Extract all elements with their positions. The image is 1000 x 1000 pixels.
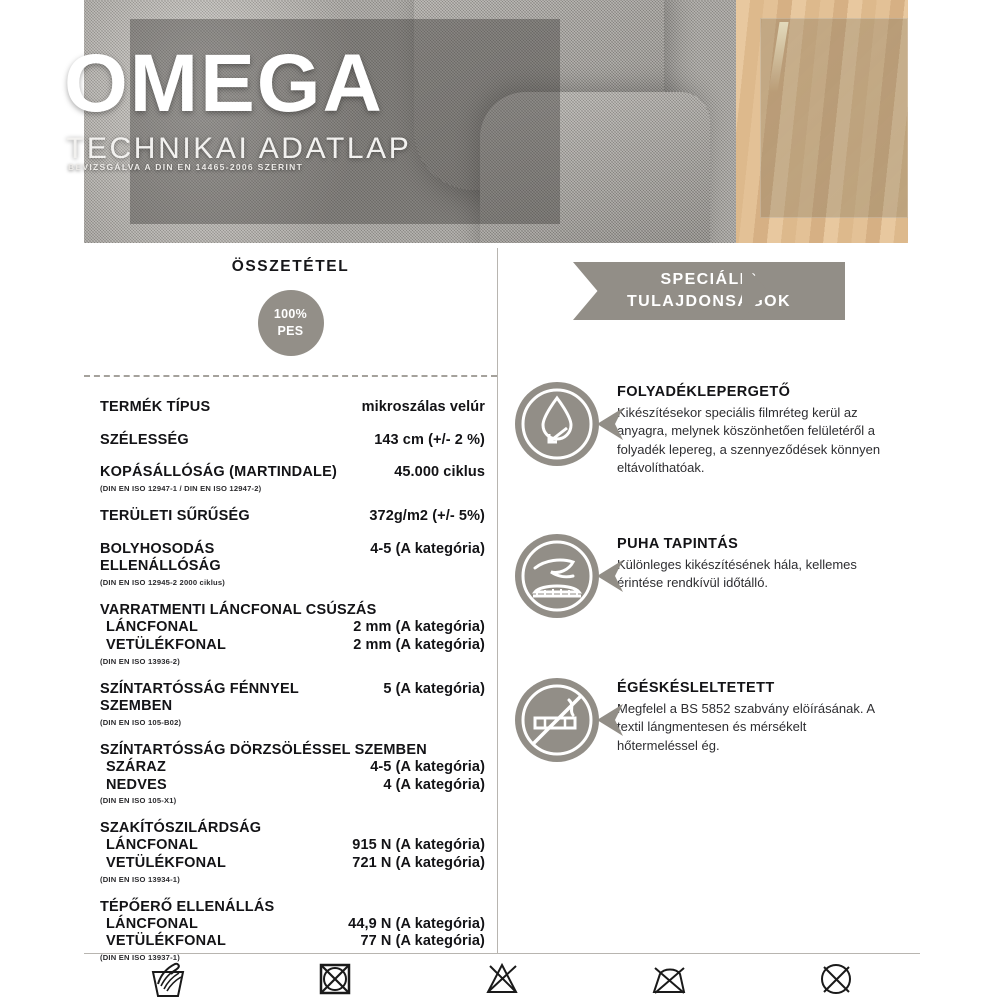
spec-row: VARRATMENTI LÁNCFONAL CSÚSZÁSLÁNCFONAL2 …	[100, 602, 485, 665]
dashed-separator	[84, 375, 497, 377]
feature-title: PUHA TAPINTÁS	[617, 536, 885, 552]
care-symbols-row	[84, 958, 920, 1000]
feature-item: ÉGÉSKÉSLELTETETTMegfelel a BS 5852 szabv…	[511, 674, 919, 766]
do-not-bleach-symbol	[472, 958, 532, 1000]
feature-text: FOLYADÉKLEPERGETŐKikészítésekor speciáli…	[617, 378, 885, 478]
feature-body: Megfelel a BS 5852 szabvány elöírásának.…	[617, 700, 885, 755]
spec-sub-value: 4 (A kategória)	[383, 777, 485, 793]
composition-and-specs-column: ÖSSZETÉTEL 100% PES TERMÉK TÍPUSmikroszá…	[84, 248, 497, 977]
spec-label: SZÉLESSÉG	[100, 432, 189, 450]
spec-label: KOPÁSÁLLÓSÁG (MARTINDALE)	[100, 464, 337, 482]
spec-sub-value: 4-5 (A kategória)	[370, 759, 485, 775]
feature-body: Kikészítésekor speciális filmréteg kerül…	[617, 404, 885, 478]
spec-sub-value: 77 N (A kategória)	[360, 933, 485, 949]
spec-group-header: SZAKÍTÓSZILÁRDSÁG	[100, 820, 485, 836]
spec-row: SZÉLESSÉG143 cm (+/- 2 %)	[100, 432, 485, 450]
spec-label: BOLYHOSODÁSELLENÁLLÓSÁG	[100, 541, 221, 576]
spec-label: SZÍNTARTÓSSÁG FÉNNYELSZEMBEN	[100, 681, 299, 716]
spec-label: TERMÉK TÍPUS	[100, 399, 210, 417]
spec-group-header: SZÍNTARTÓSSÁG DÖRZSÖLÉSSEL SZEMBEN	[100, 742, 485, 758]
page-subtitle: TECHNIKAI ADATLAP	[66, 134, 486, 164]
feature-item: PUHA TAPINTÁSKülönleges kikészítésének h…	[511, 530, 919, 622]
spec-row: TERMÉK TÍPUSmikroszálas velúr	[100, 399, 485, 417]
spec-row: KOPÁSÁLLÓSÁG (MARTINDALE)45.000 ciklus(D…	[100, 464, 485, 493]
spec-row: SZAKÍTÓSZILÁRDSÁGLÁNCFONAL915 N (A kateg…	[100, 820, 485, 883]
special-properties-banner: SPECIÁLIS TULAJDONSÁGOK	[573, 262, 845, 320]
feature-title: ÉGÉSKÉSLELTETETT	[617, 680, 885, 696]
spec-row: TERÜLETI SŰRŰSÉG372g/m2 (+/- 5%)	[100, 508, 485, 526]
soft-touch-hand-icon	[511, 530, 603, 622]
feature-title: FOLYADÉKLEPERGETŐ	[617, 384, 885, 400]
spec-standard: (DIN EN ISO 105-X1)	[100, 796, 485, 805]
composition-badge: 100% PES	[258, 290, 324, 356]
features-list: FOLYADÉKLEPERGETŐKikészítésekor speciáli…	[499, 378, 919, 766]
specification-table: TERMÉK TÍPUSmikroszálas velúrSZÉLESSÉG14…	[84, 399, 497, 962]
spec-row: BOLYHOSODÁSELLENÁLLÓSÁG4-5 (A kategória)…	[100, 541, 485, 587]
spec-value: 5 (A kategória)	[383, 681, 485, 697]
spec-standard: (DIN EN ISO 13936-2)	[100, 657, 485, 666]
do-not-tumble-dry-symbol	[305, 958, 365, 1000]
spec-sub-value: 44,9 N (A kategória)	[348, 916, 485, 932]
water-droplet-repellent-icon	[511, 378, 603, 470]
spec-value: 372g/m2 (+/- 5%)	[369, 508, 485, 524]
spec-sub-label: VETÜLÉKFONAL	[100, 933, 226, 951]
special-properties-column: SPECIÁLIS TULAJDONSÁGOK FOLYADÉKLEPERGET…	[499, 248, 919, 818]
hand-wash-symbol	[138, 958, 198, 1000]
spec-row: SZÍNTARTÓSSÁG DÖRZSÖLÉSSEL SZEMBENSZÁRAZ…	[100, 742, 485, 805]
spec-value: 45.000 ciklus	[394, 464, 485, 480]
spec-sub-value: 721 N (A kategória)	[352, 855, 485, 871]
spec-sub-value: 915 N (A kategória)	[352, 837, 485, 853]
do-not-iron-symbol	[639, 958, 699, 1000]
composition-percent: 100%	[274, 306, 307, 323]
spec-sub-label: LÁNCFONAL	[100, 916, 198, 934]
spec-standard: (DIN EN ISO 12945-2 2000 ciklus)	[100, 578, 485, 587]
spec-group-header: VARRATMENTI LÁNCFONAL CSÚSZÁS	[100, 602, 485, 618]
standard-note: BEVIZSGÁLVA A DIN EN 14465-2006 SZERINT	[68, 162, 488, 172]
feature-item: FOLYADÉKLEPERGETŐKikészítésekor speciáli…	[511, 378, 919, 478]
spec-sub-label: NEDVES	[100, 777, 167, 795]
page-title: OMEGA	[64, 43, 484, 125]
spec-value: mikroszálas velúr	[362, 399, 485, 415]
spec-sub-label: VETÜLÉKFONAL	[100, 855, 226, 873]
composition-title: ÖSSZETÉTEL	[84, 258, 497, 276]
feature-text: PUHA TAPINTÁSKülönleges kikészítésének h…	[617, 530, 885, 593]
spec-row: SZÍNTARTÓSSÁG FÉNNYELSZEMBEN5 (A kategór…	[100, 681, 485, 727]
spec-value: 143 cm (+/- 2 %)	[374, 432, 485, 448]
spec-sub-label: LÁNCFONAL	[100, 837, 198, 855]
care-divider-line	[84, 953, 920, 954]
feature-text: ÉGÉSKÉSLELTETETTMegfelel a BS 5852 szabv…	[617, 674, 885, 755]
spec-group-header: TÉPŐERŐ ELLENÁLLÁS	[100, 899, 485, 915]
feature-body: Különleges kikészítésének hála, kellemes…	[617, 556, 885, 593]
datasheet-page: OMEGA TECHNIKAI ADATLAP BEVIZSGÁLVA A DI…	[0, 0, 1000, 1000]
spec-sub-value: 2 mm (A kategória)	[353, 637, 485, 653]
spec-sub-label: SZÁRAZ	[100, 759, 166, 777]
banner-right-arrow	[742, 262, 768, 320]
spec-sub-value: 2 mm (A kategória)	[353, 619, 485, 635]
spec-sub-label: LÁNCFONAL	[100, 619, 198, 637]
flame-retardant-no-cigarette-icon	[511, 674, 603, 766]
spec-sub-label: VETÜLÉKFONAL	[100, 637, 226, 655]
column-divider	[497, 248, 498, 953]
do-not-dry-clean-symbol	[806, 958, 866, 1000]
spec-standard: (DIN EN ISO 105-B02)	[100, 718, 485, 727]
special-properties-banner-wrap: SPECIÁLIS TULAJDONSÁGOK	[499, 262, 919, 320]
spec-standard: (DIN EN ISO 13934-1)	[100, 875, 485, 884]
spec-standard: (DIN EN ISO 12947-1 / DIN EN ISO 12947-2…	[100, 484, 485, 493]
composition-material: PES	[278, 323, 304, 340]
spec-value: 4-5 (A kategória)	[370, 541, 485, 557]
spec-label: TERÜLETI SŰRŰSÉG	[100, 508, 250, 526]
